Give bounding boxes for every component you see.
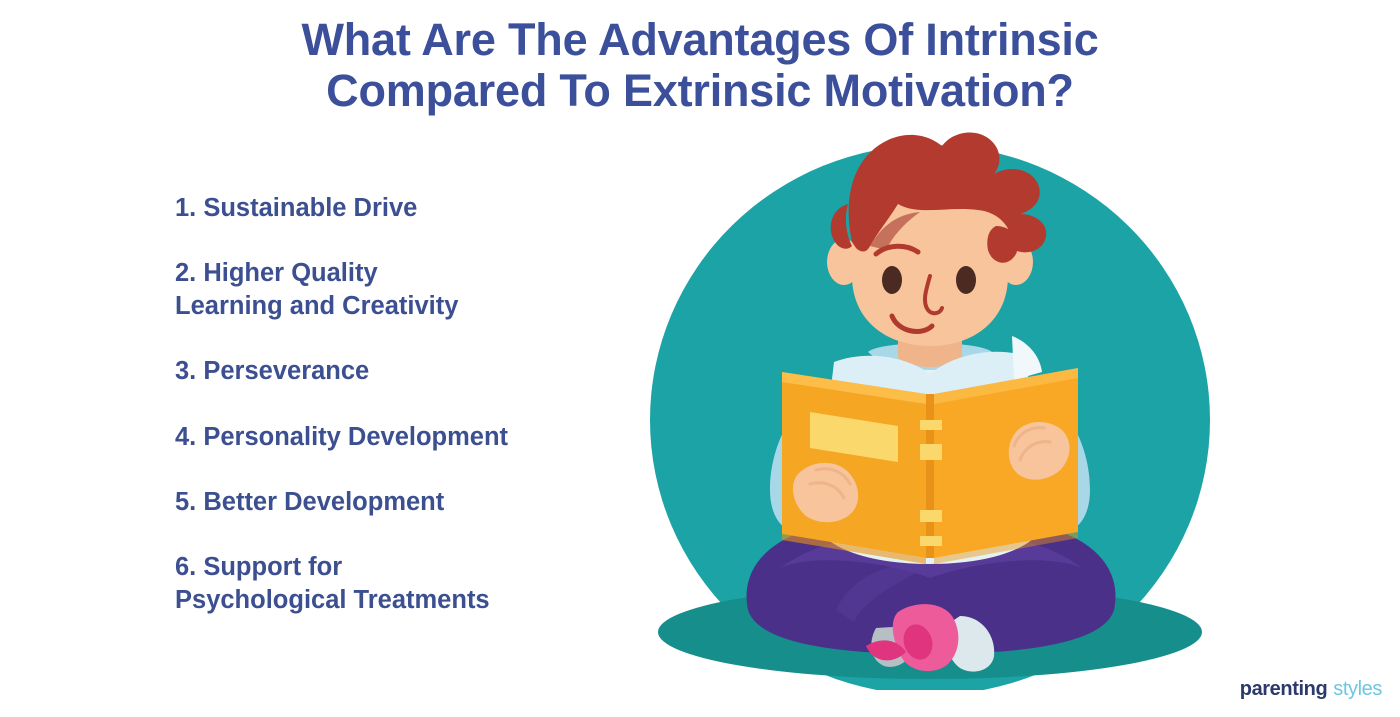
logo-primary-word: parenting: [1240, 678, 1328, 701]
infographic-canvas: What Are The Advantages Of Intrinsic Com…: [0, 0, 1400, 717]
list-item: 3. Perseverance: [175, 355, 655, 388]
child-reading-book-illustration: [630, 130, 1230, 690]
right-eye: [956, 266, 976, 294]
list-item: 1. Sustainable Drive: [175, 192, 655, 225]
book-spine: [926, 394, 934, 558]
advantages-list: 1. Sustainable Drive 2. Higher Quality L…: [175, 192, 655, 617]
logo-secondary-word: styles: [1333, 678, 1382, 701]
list-item: 4. Personality Development: [175, 421, 655, 454]
list-item: 2. Higher Quality Learning and Creativit…: [175, 257, 655, 323]
page-title: What Are The Advantages Of Intrinsic Com…: [250, 14, 1150, 117]
list-item: 6. Support for Psychological Treatments: [175, 551, 655, 617]
list-item: 5. Better Development: [175, 486, 655, 519]
parenting-styles-logo[interactable]: parenting styles: [1240, 678, 1382, 701]
left-eye: [882, 266, 902, 294]
